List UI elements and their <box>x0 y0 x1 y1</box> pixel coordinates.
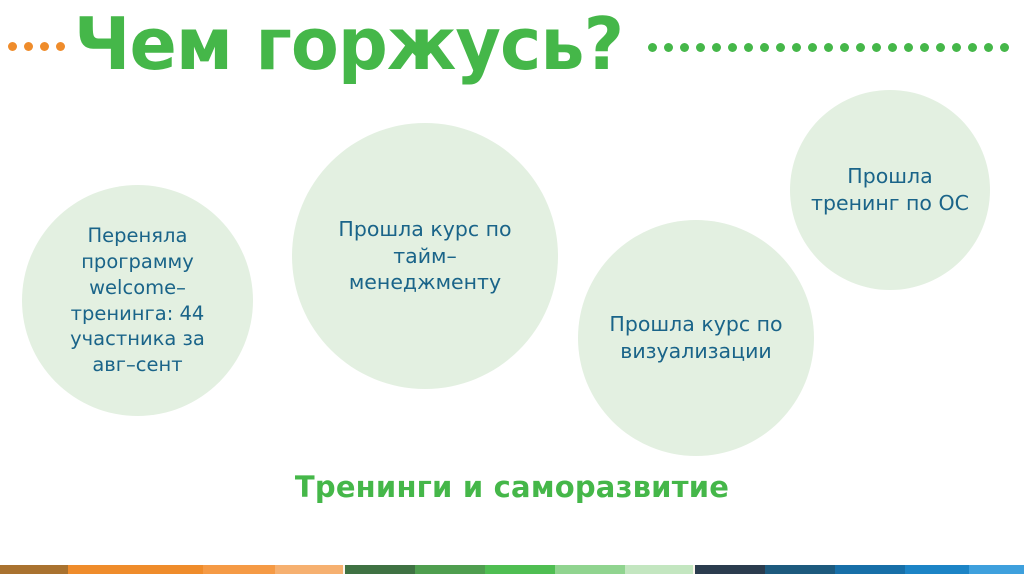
bubble-welcome-program[interactable]: Переняла программу welcome– тренинга: 44… <box>22 185 253 416</box>
color-bar-segment <box>0 565 68 574</box>
color-bar-segment <box>835 565 905 574</box>
color-bar-segment <box>969 565 1024 574</box>
bubble-group: Переняла программу welcome– тренинга: 44… <box>0 0 1024 520</box>
bubble-time-management[interactable]: Прошла курс по тайм– менеджменту <box>292 123 558 389</box>
color-bar-segment <box>695 565 765 574</box>
bubble-label: Прошла тренинг по ОС <box>805 163 975 216</box>
bubble-label: Прошла курс по тайм– менеджменту <box>332 216 517 296</box>
bubble-label: Прошла курс по визуализации <box>603 311 788 364</box>
bubble-os-training[interactable]: Прошла тренинг по ОС <box>790 90 990 290</box>
bubble-visualization[interactable]: Прошла курс по визуализации <box>578 220 814 456</box>
slide-root: Чем горжусь? Переняла программу welcome–… <box>0 0 1024 574</box>
color-bar-segment <box>905 565 969 574</box>
bubble-label: Переняла программу welcome– тренинга: 44… <box>64 223 211 379</box>
section-caption: Тренинги и саморазвитие <box>0 470 1024 504</box>
color-bar-segment <box>203 565 275 574</box>
bottom-color-bar <box>0 565 1024 574</box>
color-bar-segment <box>485 565 555 574</box>
color-bar-segment <box>555 565 625 574</box>
color-bar-segment <box>345 565 415 574</box>
color-bar-segment <box>275 565 343 574</box>
color-bar-segment <box>68 565 203 574</box>
color-bar-segment <box>765 565 835 574</box>
color-bar-segment <box>415 565 485 574</box>
color-bar-segment <box>625 565 693 574</box>
